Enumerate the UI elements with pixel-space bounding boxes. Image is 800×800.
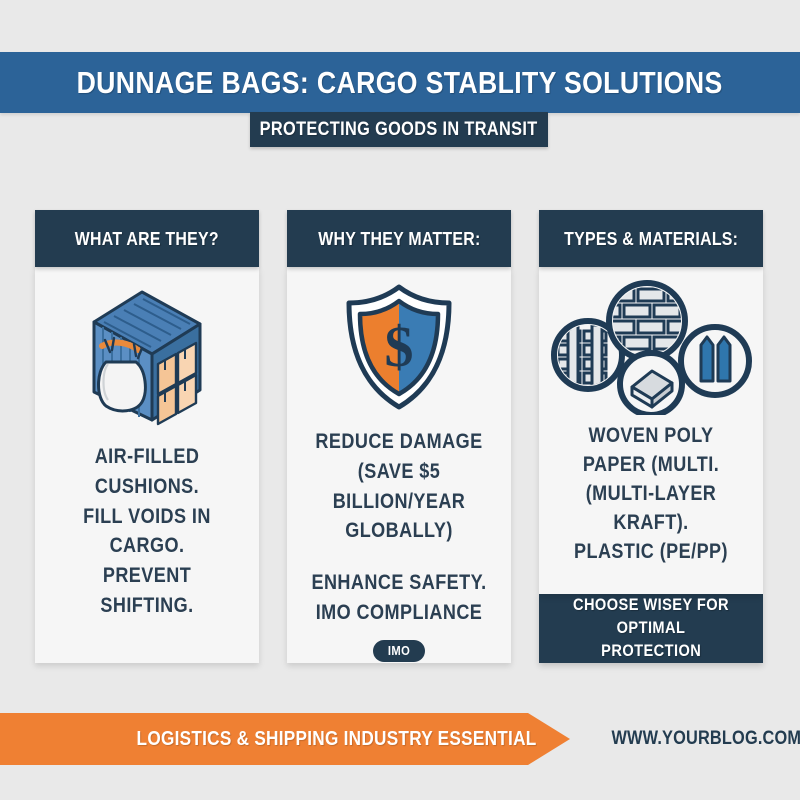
card-text-line: PLASTIC (PE/PP): [562, 538, 741, 567]
card-text-line: ENHANCE SAFETY.: [310, 568, 489, 598]
card-text-line: (MULTI-LAYER KRAFT).: [562, 480, 741, 538]
card-header-label: TYPES & MATERIALS:: [564, 228, 738, 250]
title-banner: DUNNAGE BAGS: CARGO STABLITY SOLUTIONS: [0, 52, 800, 113]
card-types-and-materials: TYPES & MATERIALS:: [539, 210, 763, 663]
materials-illustration: [539, 267, 763, 422]
card-text-line: AIR-FILLED CUSHIONS.: [58, 442, 237, 502]
text-spacer: [295, 546, 503, 568]
footer-url-label[interactable]: WWW.YOURBLOG.COM: [611, 728, 800, 750]
page-subtitle: PROTECTING GOODS IN TRANSIT: [260, 119, 538, 141]
imo-badge: IMO: [373, 640, 425, 662]
subtitle-banner: PROTECTING GOODS IN TRANSIT: [250, 112, 548, 147]
card-header-types-and-materials: TYPES & MATERIALS:: [539, 210, 763, 267]
card-text-line: WOVEN POLY: [562, 422, 741, 451]
shipping-container-with-dunnage-bag-icon: [72, 280, 222, 430]
stacked-sheets-circle-icon: [620, 353, 682, 415]
footer-url-block[interactable]: WWW.YOURBLOG.COM: [596, 713, 800, 765]
plastic-bottles-circle-icon: [681, 327, 749, 395]
card-text-why-they-matter: REDUCE DAMAGE (SAVE $5 BILLION/YEAR GLOB…: [287, 427, 511, 628]
card-header-what-are-they: WHAT ARE THEY?: [35, 210, 259, 267]
shield-illustration: $: [287, 267, 511, 427]
card-footer-line: PROTECTION: [601, 640, 701, 663]
card-body-what-are-they: AIR-FILLED CUSHIONS. FILL VOIDS IN CARGO…: [35, 267, 259, 663]
page-title: DUNNAGE BAGS: CARGO STABLITY SOLUTIONS: [77, 65, 723, 101]
card-text-line: PREVENT SHIFTING.: [58, 561, 237, 621]
card-footer-line: CHOOSE WISEY FOR OPTIMAL: [555, 594, 748, 640]
imo-badge-label: IMO: [388, 643, 410, 658]
card-text-line: IMO COMPLIANCE: [310, 598, 489, 628]
footer-tagline-banner: LOGISTICS & SHIPPING INDUSTRY ESSENTIAL: [0, 713, 570, 765]
card-text-line: (SAVE $5 BILLION/YEAR: [310, 457, 489, 517]
card-body-why-they-matter: $ REDUCE DAMAGE (SAVE $5 BILLION/YEAR GL…: [287, 267, 511, 663]
card-text-line: PAPER (MULTI.: [562, 451, 741, 480]
card-text-what-are-they: AIR-FILLED CUSHIONS. FILL VOIDS IN CARGO…: [35, 442, 259, 621]
card-footer-choose-wisely: CHOOSE WISEY FOR OPTIMAL PROTECTION: [539, 594, 763, 663]
container-illustration: [35, 267, 259, 442]
card-body-types-and-materials: WOVEN POLY PAPER (MULTI. (MULTI-LAYER KR…: [539, 267, 763, 594]
card-text-types-and-materials: WOVEN POLY PAPER (MULTI. (MULTI-LAYER KR…: [539, 422, 763, 567]
card-what-are-they: WHAT ARE THEY?: [35, 210, 259, 663]
card-text-line: REDUCE DAMAGE: [310, 427, 489, 457]
card-why-they-matter: WHY THEY MATTER: $ REDUCE DAMAGE (SAVE $…: [287, 210, 511, 663]
card-text-line: FILL VOIDS IN CARGO.: [58, 502, 237, 562]
card-header-label: WHY THEY MATTER:: [318, 228, 480, 250]
dollar-shield-icon: $: [339, 281, 459, 413]
card-header-why-they-matter: WHY THEY MATTER:: [287, 210, 511, 267]
materials-circles-icon: [546, 275, 756, 415]
footer-tagline: LOGISTICS & SHIPPING INDUSTRY ESSENTIAL: [137, 728, 537, 751]
card-header-label: WHAT ARE THEY?: [75, 228, 219, 250]
card-text-line: GLOBALLY): [310, 516, 489, 546]
svg-text:$: $: [385, 314, 414, 379]
